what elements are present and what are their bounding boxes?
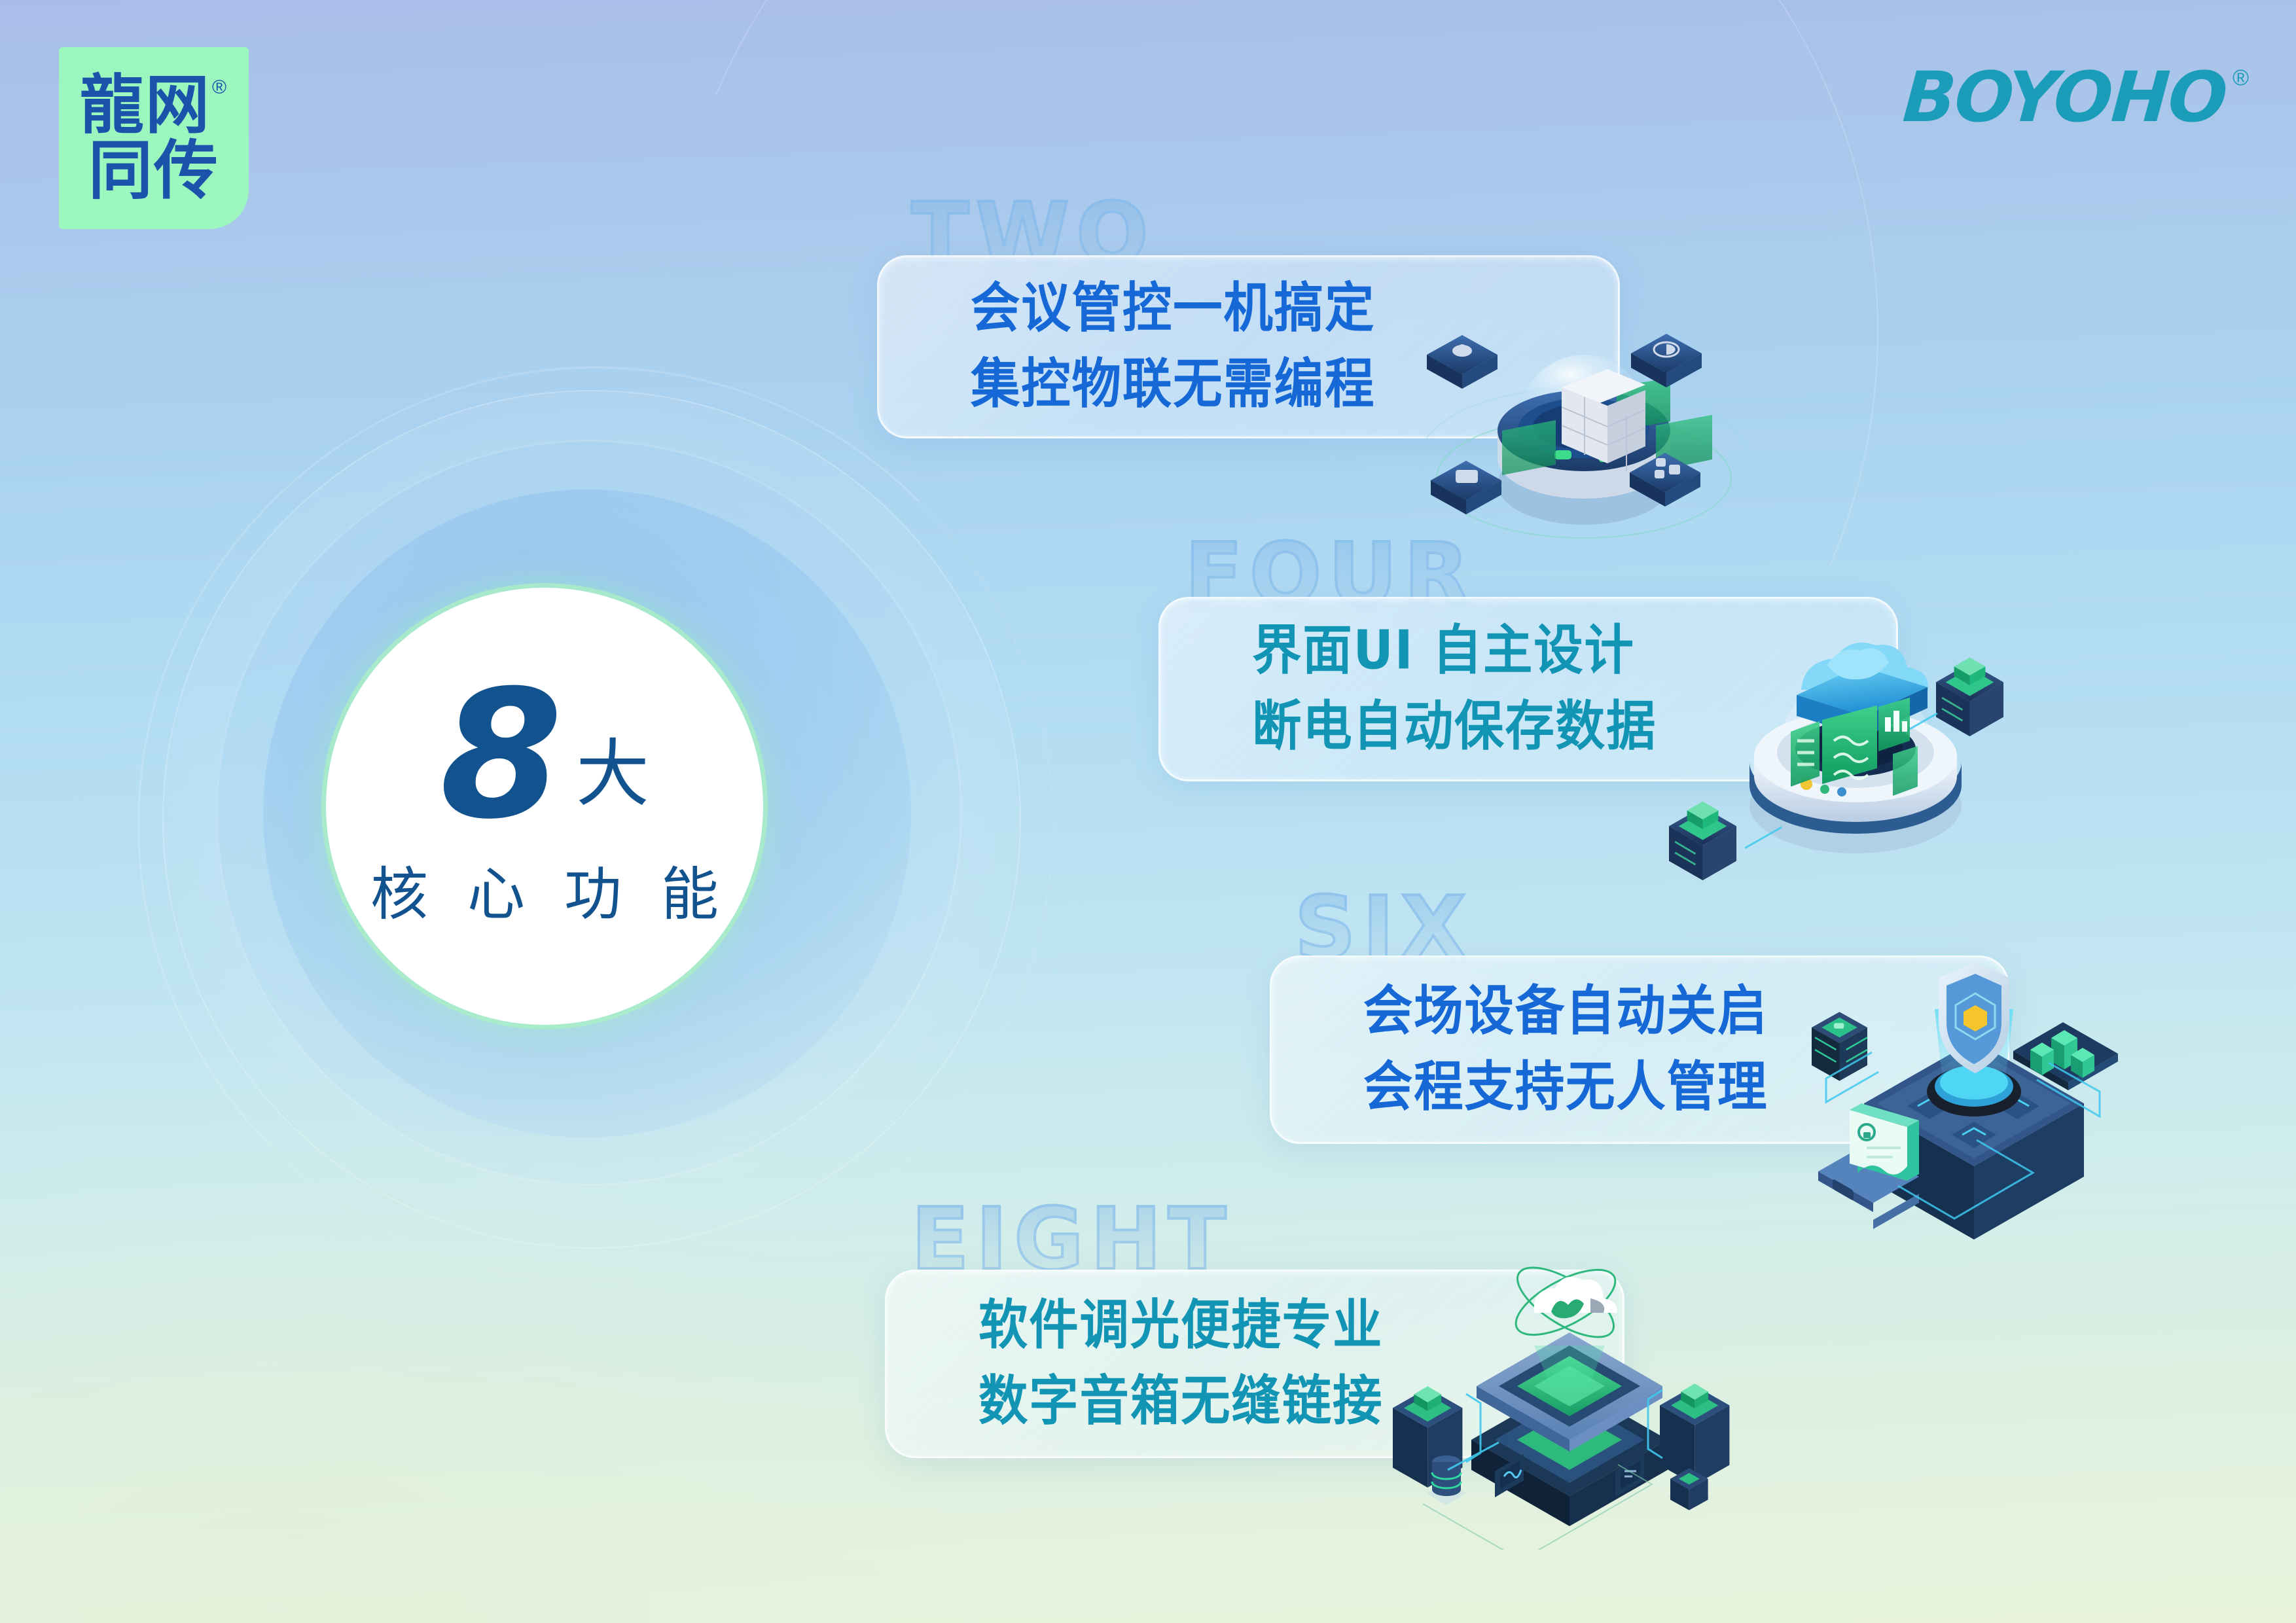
feature-card-two[interactable]: 会议管控一机搞定 集控物联无需编程 [877, 255, 1620, 438]
feature-card-four-line2: 断电自动保存数据 [1252, 689, 1657, 765]
feature-card-six-line2: 会程支持无人管理 [1363, 1050, 1768, 1126]
badge-number: 8 [440, 681, 556, 830]
feature-card-eight-line1: 软件调光便捷专业 [978, 1288, 1383, 1364]
logo-char-chuan: 传 [154, 138, 219, 204]
badge-unit: 大 [576, 738, 649, 811]
logo-registered-icon: ® [212, 78, 228, 98]
brand-logo: BOYOHO ® [1903, 63, 2249, 132]
feature-card-six-line1: 会场设备自动关启 [1363, 974, 1768, 1050]
logo-char-long: 龍 [80, 73, 145, 138]
step-word-eight: EIGHT [911, 1196, 1232, 1281]
brand-name: BOYOHO [1901, 63, 2229, 132]
badge-headline: 8 大 [440, 681, 649, 830]
feature-card-eight[interactable]: 软件调光便捷专业 数字音箱无缝链接 [885, 1270, 1624, 1458]
feature-card-eight-line2: 数字音箱无缝链接 [978, 1364, 1383, 1440]
logo-char-tong: 同 [88, 138, 154, 204]
feature-card-two-line2: 集控物联无需编程 [971, 347, 1375, 423]
background-glow-bottom-left [0, 1099, 982, 1623]
feature-card-four[interactable]: 界面UI 自主设计 断电自动保存数据 [1158, 597, 1898, 781]
company-logo: 龍 网 ® 同 传 [59, 47, 249, 229]
feature-card-six[interactable]: 会场设备自动关启 会程支持无人管理 [1270, 955, 2009, 1144]
feature-card-four-line1: 界面UI 自主设计 [1252, 613, 1657, 689]
feature-card-four-text: 界面UI 自主设计 断电自动保存数据 [1252, 613, 1692, 766]
feature-card-eight-text: 软件调光便捷专业 数字音箱无缝链接 [978, 1288, 1418, 1440]
feature-card-six-text: 会场设备自动关启 会程支持无人管理 [1363, 974, 1803, 1126]
logo-line-1: 龍 网 ® [80, 73, 228, 138]
logo-line-2: 同 传 [88, 138, 219, 204]
feature-card-two-text: 会议管控一机搞定 集控物联无需编程 [971, 271, 1410, 423]
feature-card-two-line1: 会议管控一机搞定 [971, 271, 1375, 347]
core-features-badge: 8 大 核 心 功 能 [326, 588, 763, 1025]
badge-subtitle: 核 心 功 能 [360, 848, 729, 931]
logo-char-wang: 网 [145, 73, 211, 138]
brand-registered-icon: ® [2233, 65, 2249, 91]
